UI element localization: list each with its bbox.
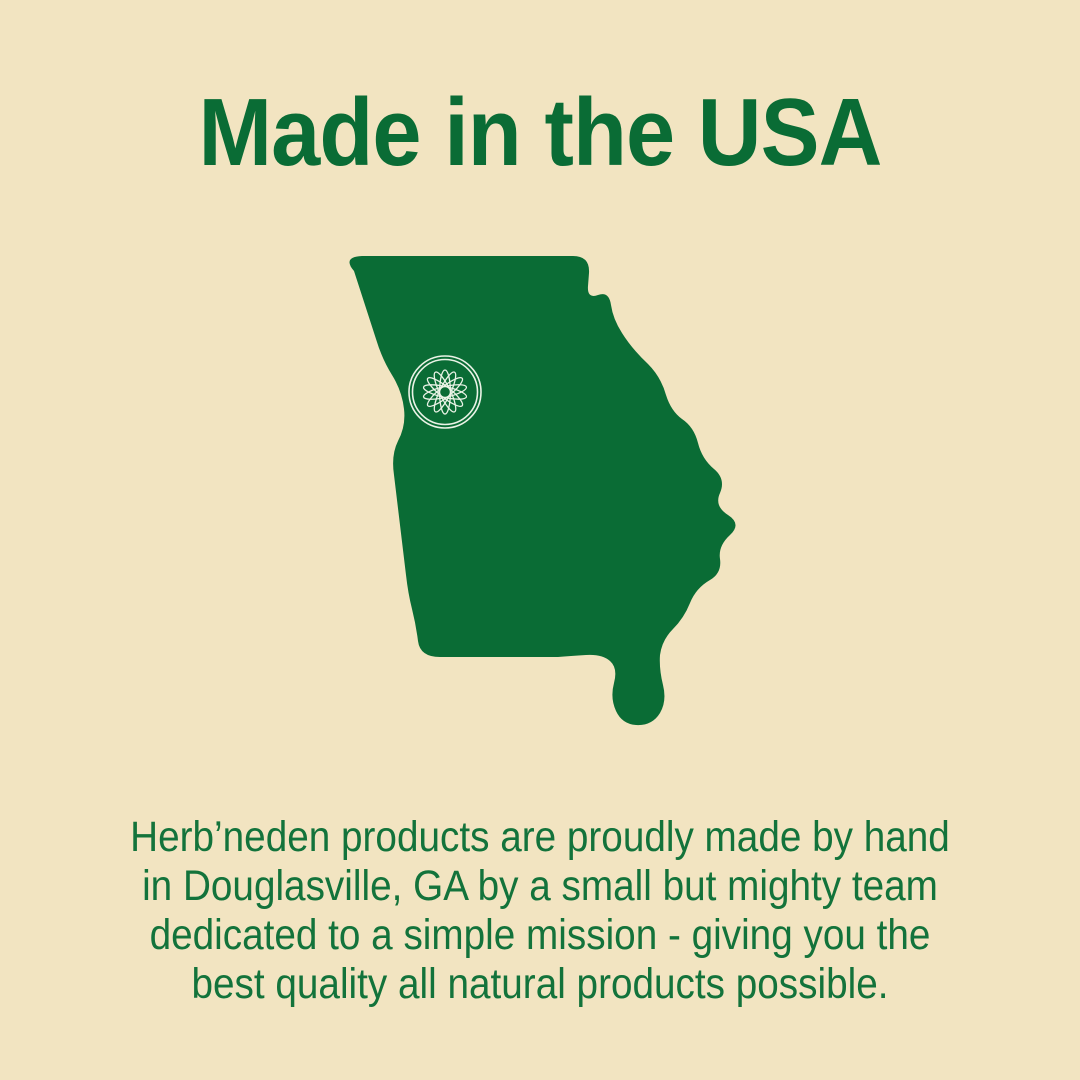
georgia-state-shape: [350, 256, 736, 725]
body-line-3: dedicated to a simple mission - giving y…: [108, 911, 972, 960]
body-line-1: Herb’neden products are proudly made by …: [108, 813, 972, 862]
body-line-4: best quality all natural products possib…: [108, 960, 972, 1009]
georgia-state-map: [330, 243, 810, 738]
body-line-2: in Douglasville, GA by a small but might…: [108, 862, 972, 911]
page-title: Made in the USA: [43, 78, 1037, 188]
made-in-usa-poster: Made in the USA Herb’nede: [0, 0, 1080, 1080]
body-copy: Herb’neden products are proudly made by …: [108, 813, 972, 1009]
